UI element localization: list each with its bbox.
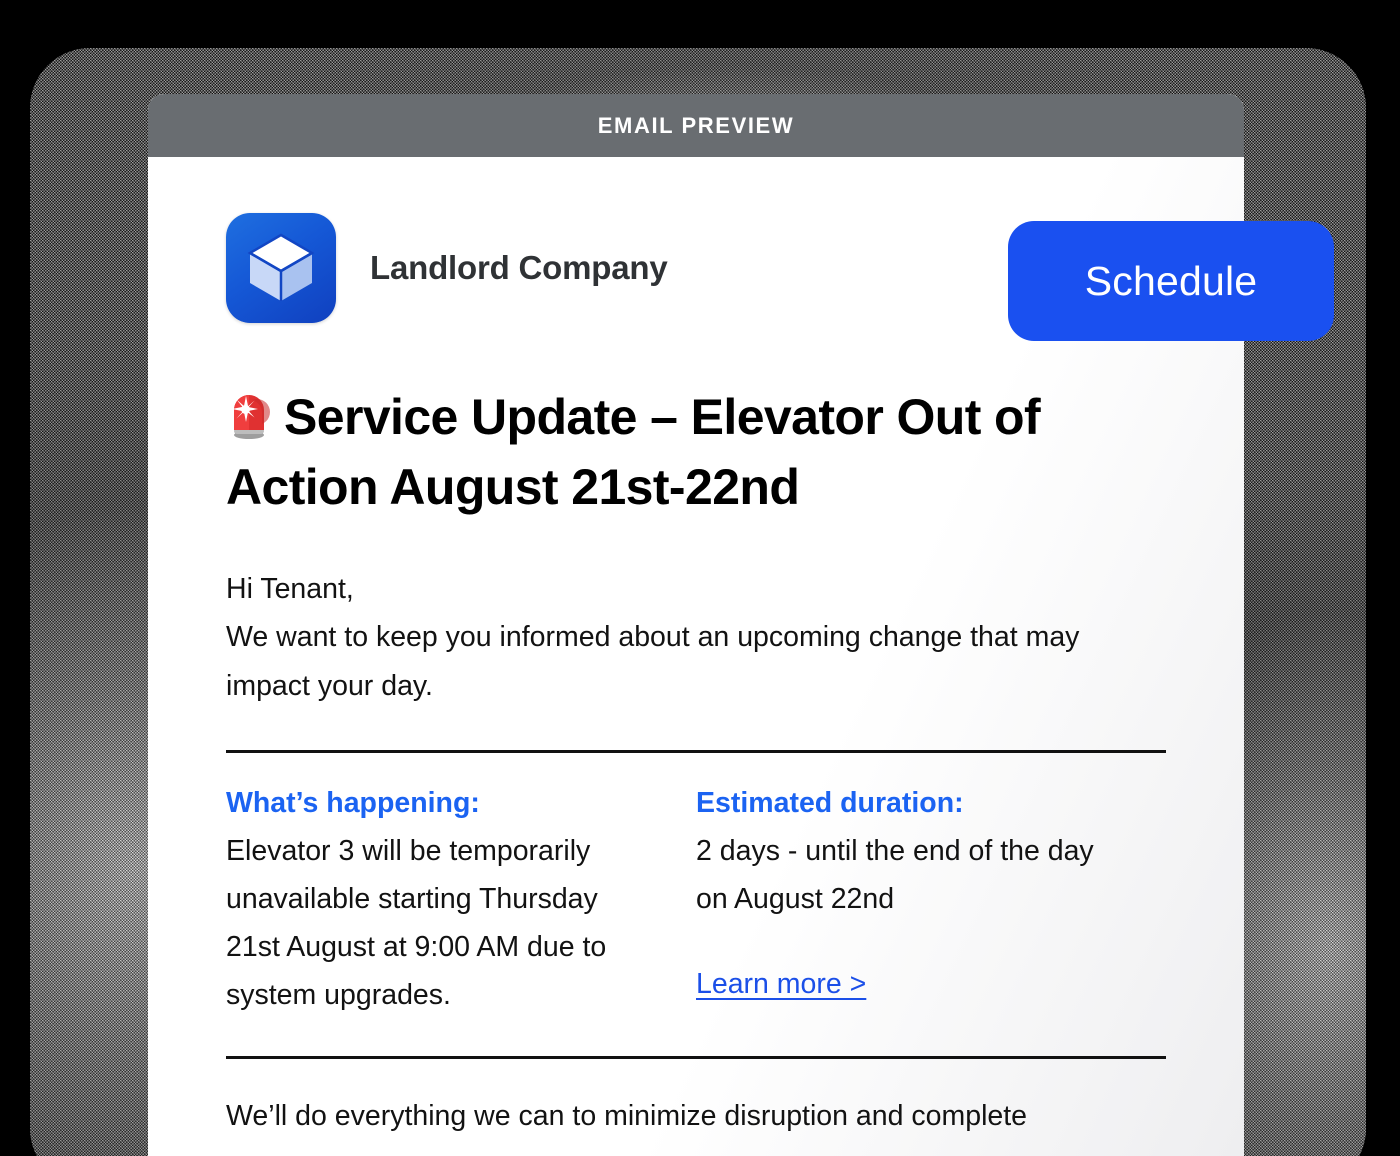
column-text: Elevator 3 will be temporarily unavailab…	[226, 828, 634, 1020]
email-intro: Hi Tenant, We want to keep you informed …	[148, 565, 1244, 710]
cube-logo-icon	[226, 213, 336, 323]
email-headline-text: Service Update – Elevator Out of Action …	[226, 389, 1040, 515]
email-preview-card: EMAIL PREVIEW Landlord Comp	[148, 94, 1244, 1156]
schedule-button[interactable]: Schedule	[1008, 221, 1334, 341]
detail-column-estimated-duration: Estimated duration: 2 days - until the e…	[696, 787, 1166, 1020]
email-headline: Service Update – Elevator Out of Action …	[148, 385, 1244, 519]
siren-emoji	[226, 390, 272, 455]
detail-columns: What’s happening: Elevator 3 will be tem…	[148, 753, 1244, 1020]
preview-title-bar: EMAIL PREVIEW	[148, 94, 1244, 157]
detail-column-whats-happening: What’s happening: Elevator 3 will be tem…	[226, 787, 696, 1020]
column-text: 2 days - until the end of the day on Aug…	[696, 828, 1104, 924]
column-heading: Estimated duration:	[696, 787, 1104, 820]
email-greeting: Hi Tenant,	[226, 565, 1096, 613]
brand-name: Landlord Company	[370, 249, 667, 287]
preview-title-label: EMAIL PREVIEW	[598, 113, 794, 139]
email-intro-text: We want to keep you informed about an up…	[226, 613, 1096, 710]
screen-backdrop: EMAIL PREVIEW Landlord Comp	[0, 0, 1400, 1156]
column-heading: What’s happening:	[226, 787, 634, 820]
email-outro: We’ll do everything we can to minimize d…	[148, 1093, 1244, 1141]
divider-bottom	[226, 1056, 1166, 1059]
learn-more-link[interactable]: Learn more >	[696, 968, 866, 1001]
